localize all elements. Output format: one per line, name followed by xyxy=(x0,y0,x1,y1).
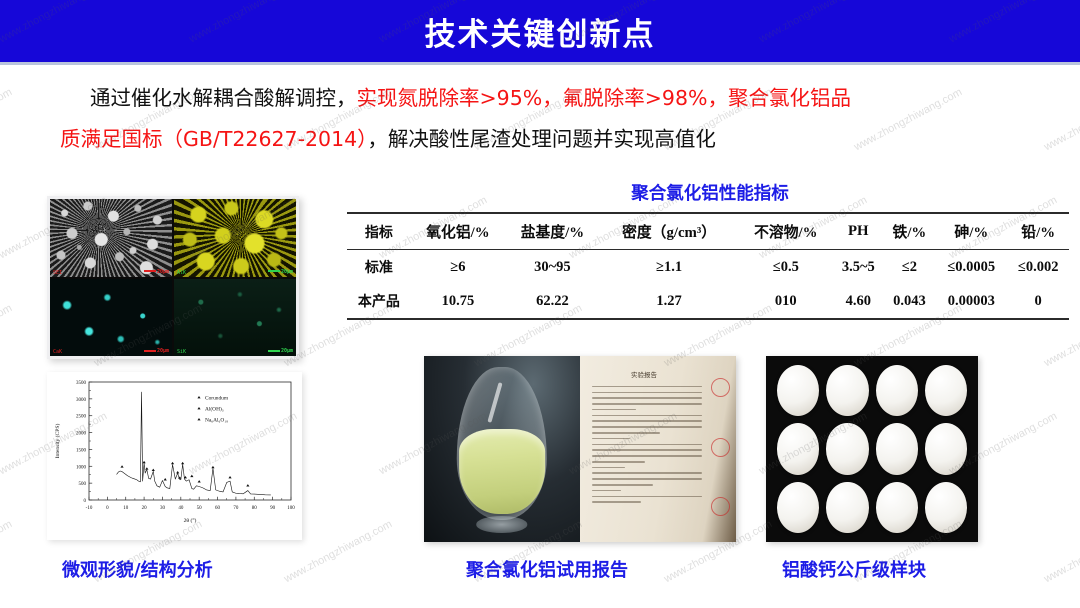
x-tick-label: 30 xyxy=(160,506,166,511)
eds-ca-tile-scalebar: 20μm xyxy=(144,348,169,354)
y-tick-label: 3000 xyxy=(76,398,87,403)
sem-eds-mosaic-figure: SEI 20μm AlK 20μm CaK 20μm SiK 20μm xyxy=(47,196,299,359)
slide-root: 技术关键创新点 通过催化水解耦合酸解调控，实现氮脱除率>95%，氟脱除率>98%… xyxy=(0,0,1080,608)
eds-si-map-tile: SiK 20μm xyxy=(174,279,296,357)
table-cell: ≤0.002 xyxy=(1007,250,1069,285)
table-cell: 1.27 xyxy=(600,284,739,319)
table-cell: 30~95 xyxy=(505,250,599,285)
x-tick-label: 40 xyxy=(178,506,184,511)
table-cell: 0.00003 xyxy=(935,284,1007,319)
paragraph-text-red-1: 实现氮脱除率>95%，氟脱除率>98%，聚合氯化铝品 xyxy=(357,86,851,110)
table-col-header: 指标 xyxy=(347,213,411,250)
red-stamp-icon xyxy=(711,378,730,397)
paragraph-text-black-2: ，解决酸性尾渣处理问题并实现高值化 xyxy=(367,127,716,151)
table-row-label: 标准 xyxy=(347,250,411,285)
y-tick-label: 0 xyxy=(84,499,87,504)
table-cell: ≤0.0005 xyxy=(935,250,1007,285)
x-tick-label: 60 xyxy=(215,506,221,511)
red-stamp-icon xyxy=(711,438,730,457)
watermark-text: www.zhongzhiwang.com xyxy=(0,518,14,585)
paragraph-line-2: 质满足国标（GB/T22627-2014），解决酸性尾渣处理问题并实现高值化 xyxy=(60,119,1060,160)
table-cell: 3.5~5 xyxy=(833,250,884,285)
paragraph-line-1: 通过催化水解耦合酸解调控，实现氮脱除率>95%，氟脱除率>98%，聚合氯化铝品 xyxy=(60,78,1060,119)
sample-puck xyxy=(876,482,918,533)
caption-calcium-aluminate: 铝酸钙公斤级样块 xyxy=(782,556,926,582)
table-col-header: 密度（g/cm³） xyxy=(600,213,739,250)
pacl-performance-table: 指标 氧化铝/% 盐基度/% 密度（g/cm³） 不溶物/% PH 铁/% 砷/… xyxy=(347,212,1069,320)
sem-tile-scalebar: 20μm xyxy=(144,269,169,275)
summary-paragraph: 通过催化水解耦合酸解调控，实现氮脱除率>95%，氟脱除率>98%，聚合氯化铝品 … xyxy=(60,78,1060,160)
y-tick-label: 1000 xyxy=(76,465,87,470)
eds-al-map-tile: AlK 20μm xyxy=(174,199,296,277)
sample-puck xyxy=(777,482,819,533)
sample-puck xyxy=(876,423,918,474)
y-tick-label: 1500 xyxy=(76,448,87,453)
x-tick-label: 0 xyxy=(106,506,109,511)
xrd-chart-svg: 0500100015002000250030003500-10010203040… xyxy=(47,372,302,540)
legend-label: Na₆Al₆O₁₈ xyxy=(205,418,228,424)
slide-title-banner: 技术关键创新点 xyxy=(0,0,1080,62)
x-tick-label: -10 xyxy=(86,506,93,511)
table-col-header: 盐基度/% xyxy=(505,213,599,250)
x-tick-label: 10 xyxy=(123,506,128,511)
eds-ca-tile-scale-text: 20μm xyxy=(157,348,169,354)
table-col-header: 铁/% xyxy=(884,213,936,250)
x-tick-label: 70 xyxy=(233,506,239,511)
table-cell: 10.75 xyxy=(411,284,505,319)
table-row-label: 本产品 xyxy=(347,284,411,319)
watermark-text: www.zhongzhiwang.com xyxy=(0,302,14,369)
sem-tile-label: SEI xyxy=(52,270,63,276)
x-tick-label: 90 xyxy=(270,506,276,511)
xrd-chart-figure: 0500100015002000250030003500-10010203040… xyxy=(47,372,302,540)
table-col-header: 氧化铝/% xyxy=(411,213,505,250)
x-tick-label: 20 xyxy=(142,506,148,511)
sample-puck-grid xyxy=(777,365,967,533)
eds-si-tile-label: SiK xyxy=(176,349,187,355)
beaker-powder-content xyxy=(459,429,545,515)
x-tick-label: 100 xyxy=(287,506,295,511)
table-cell: 62.22 xyxy=(505,284,599,319)
sem-image-tile: SEI 20μm xyxy=(50,199,172,277)
table-cell: ≥1.1 xyxy=(600,250,739,285)
red-stamp-icon xyxy=(711,497,730,516)
paragraph-text-red-2: 质满足国标（GB/T22627-2014） xyxy=(60,127,367,151)
x-tick-label: 50 xyxy=(197,506,203,511)
sample-puck xyxy=(777,365,819,416)
x-axis-label: 2θ (°) xyxy=(184,517,197,524)
table-cell: 4.60 xyxy=(833,284,884,319)
eds-si-tile-scalebar: 20μm xyxy=(268,348,293,354)
sample-puck xyxy=(826,423,868,474)
y-tick-label: 3500 xyxy=(76,381,87,386)
calcium-aluminate-samples-photo xyxy=(766,356,978,542)
pacl-product-photo: 实验报告 xyxy=(424,356,736,542)
eds-al-tile-label: AlK xyxy=(176,270,187,276)
table-row: 标准 ≥6 30~95 ≥1.1 ≤0.5 3.5~5 ≤2 ≤0.0005 ≤… xyxy=(347,250,1069,285)
table-cell: 0 xyxy=(1007,284,1069,319)
table-title: 聚合氯化铝性能指标 xyxy=(340,180,1080,205)
x-tick-label: 80 xyxy=(252,506,257,511)
eds-ca-tile-label: CaK xyxy=(52,349,63,355)
watermark-text: www.zhongzhiwang.com xyxy=(1042,518,1080,585)
table-cell: 010 xyxy=(739,284,833,319)
sem-eds-mosaic-grid: SEI 20μm AlK 20μm CaK 20μm SiK 20μm xyxy=(50,199,296,356)
sample-puck xyxy=(925,482,967,533)
sem-tile-scale-text: 20μm xyxy=(157,269,169,275)
table-cell: ≤0.5 xyxy=(739,250,833,285)
eds-ca-map-tile: CaK 20μm xyxy=(50,279,172,357)
table-row: 本产品 10.75 62.22 1.27 010 4.60 0.043 0.00… xyxy=(347,284,1069,319)
lab-report-photo: 实验报告 xyxy=(580,356,736,542)
sample-puck xyxy=(925,365,967,416)
legend-label: Al(OH)₃ xyxy=(205,406,224,413)
table-header-row: 指标 氧化铝/% 盐基度/% 密度（g/cm³） 不溶物/% PH 铁/% 砷/… xyxy=(347,213,1069,250)
banner-divider xyxy=(0,62,1080,65)
sample-puck xyxy=(826,482,868,533)
lab-report-text-lines xyxy=(592,386,701,531)
watermark-text: www.zhongzhiwang.com xyxy=(0,86,14,153)
table-col-header: 不溶物/% xyxy=(739,213,833,250)
table-col-header: 砷/% xyxy=(935,213,1007,250)
y-tick-label: 2500 xyxy=(76,415,87,420)
eds-al-tile-scale-text: 20μm xyxy=(281,269,293,275)
table-col-header: 铅/% xyxy=(1007,213,1069,250)
table-col-header: PH xyxy=(833,213,884,250)
lab-report-title: 实验报告 xyxy=(580,369,708,379)
caption-microstructure: 微观形貌/结构分析 xyxy=(62,556,213,582)
caption-pacl-report: 聚合氯化铝试用报告 xyxy=(466,556,628,582)
y-tick-label: 2000 xyxy=(76,432,87,437)
beaker-photo xyxy=(424,356,580,542)
beaker-foot xyxy=(476,516,527,533)
table-cell: ≤2 xyxy=(884,250,936,285)
paragraph-text-black-1: 通过催化水解耦合酸解调控， xyxy=(90,86,357,110)
eds-al-tile-scalebar: 20μm xyxy=(268,269,293,275)
sample-puck xyxy=(925,423,967,474)
y-tick-label: 500 xyxy=(79,482,87,487)
sample-puck xyxy=(876,365,918,416)
eds-si-tile-scale-text: 20μm xyxy=(281,348,293,354)
table-cell: 0.043 xyxy=(884,284,936,319)
page-title: 技术关键创新点 xyxy=(425,9,656,54)
legend-label: Corundum xyxy=(205,396,229,402)
y-axis-label: Intensity (CPS) xyxy=(54,424,61,459)
sample-puck xyxy=(826,365,868,416)
table-cell: ≥6 xyxy=(411,250,505,285)
sample-puck xyxy=(777,423,819,474)
